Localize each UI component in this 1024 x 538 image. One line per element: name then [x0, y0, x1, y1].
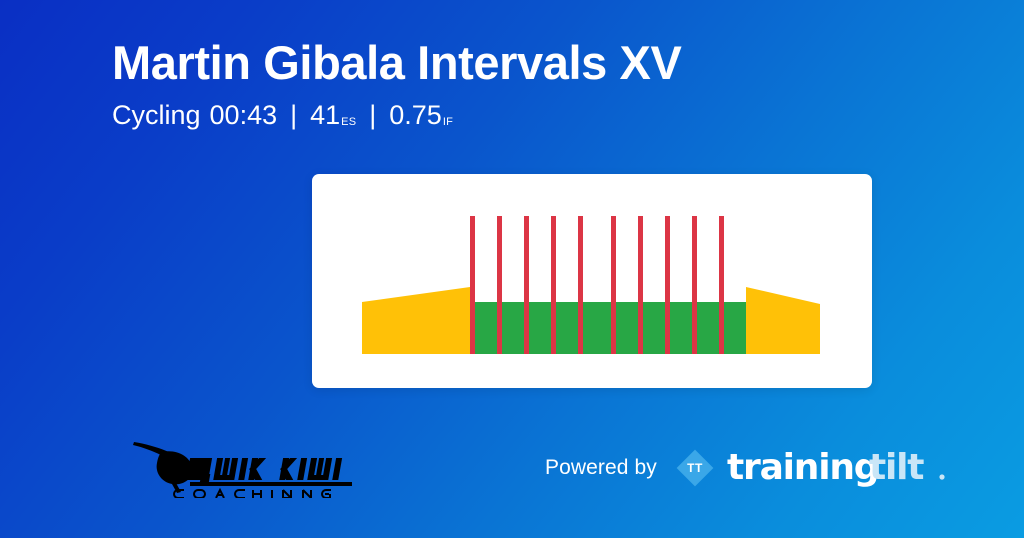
- qwik-kiwi-coaching-logo: [132, 436, 404, 498]
- chart-segment-recovery-9: [697, 302, 719, 354]
- chart-segment-recovery-5: [583, 302, 611, 354]
- svg-text:training: training: [727, 447, 878, 488]
- chart-segment-interval-10: [719, 216, 724, 354]
- chart-segment-recovery-4: [556, 302, 578, 354]
- chart-segment-interval-5: [578, 216, 583, 354]
- stress-score-unit: ES: [341, 116, 356, 129]
- workout-profile-chart: [362, 204, 820, 354]
- chart-segment-recovery-3: [529, 302, 551, 354]
- footer: Powered by TT training tilt: [0, 428, 1024, 508]
- chart-segment-interval-3: [524, 216, 529, 354]
- meta-separator-1: |: [290, 99, 297, 131]
- svg-text:TT: TT: [687, 461, 703, 475]
- chart-segment-interval-9: [692, 216, 697, 354]
- training-tilt-wordmark: training tilt: [727, 447, 969, 489]
- intensity-factor-unit: IF: [443, 116, 453, 129]
- chart-segment-interval-1: [470, 216, 475, 354]
- workout-meta-line: Cycling 00:43 | 41 ES | 0.75 IF: [112, 99, 932, 131]
- workout-share-card: Martin Gibala Intervals XV Cycling 00:43…: [0, 0, 1024, 538]
- workout-chart-card: [312, 174, 872, 388]
- chart-segment-recovery-7: [643, 302, 665, 354]
- intensity-factor-value: 0.75: [389, 99, 442, 131]
- page-title: Martin Gibala Intervals XV: [112, 36, 932, 91]
- qwik-kiwi-logo-art: [132, 436, 404, 498]
- chart-segment-recovery-2: [502, 302, 524, 354]
- powered-by-label: Powered by: [545, 456, 657, 480]
- duration-value: 00:43: [210, 99, 278, 131]
- sport-label: Cycling: [112, 99, 201, 131]
- chart-segment-interval-4: [551, 216, 556, 354]
- svg-text:tilt: tilt: [869, 447, 924, 488]
- chart-segment-interval-6: [611, 216, 616, 354]
- chart-segment-interval-2: [497, 216, 502, 354]
- workout-header: Martin Gibala Intervals XV Cycling 00:43…: [112, 36, 932, 131]
- stress-score-value: 41: [310, 99, 340, 131]
- chart-segment-recovery-1: [475, 302, 497, 354]
- workout-chart-plot: [362, 204, 820, 354]
- chart-segment-warmup: [362, 287, 470, 354]
- chart-segment-recovery-8: [670, 302, 692, 354]
- chart-segment-cooldown: [746, 287, 820, 354]
- chart-segment-recovery-6: [616, 302, 638, 354]
- meta-separator-2: |: [369, 99, 376, 131]
- powered-by-block: Powered by TT training tilt: [545, 446, 969, 490]
- chart-segment-interval-8: [665, 216, 670, 354]
- chart-segment-recovery-10: [724, 302, 746, 354]
- training-tilt-diamond-icon: TT: [673, 446, 717, 490]
- chart-segment-interval-7: [638, 216, 643, 354]
